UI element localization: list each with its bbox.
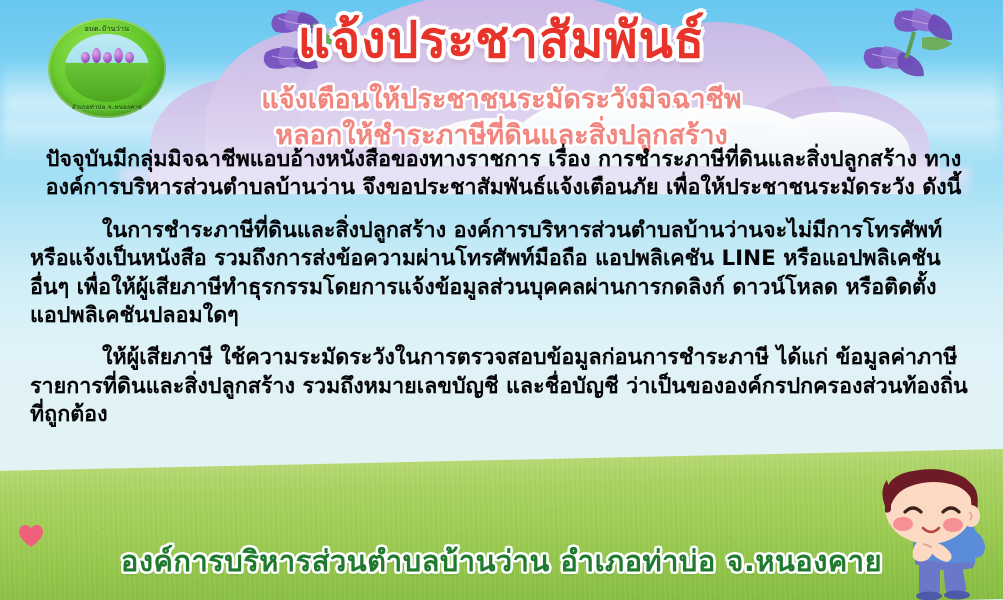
body-paragraph-1: ปัจจุบันมีกลุ่มมิจฉาชีพแอบอ้างหนังสือของ… xyxy=(30,146,977,203)
poster-headline: แจ้งประชาสัมพันธ์ xyxy=(0,14,1003,67)
announcement-poster: อบต.บ้านว่าน อำเภอท่าบ่อ จ.หนองคาย xyxy=(0,0,1003,600)
body-paragraph-2: ในการชำระภาษีที่ดินและสิ่งปลูกสร้าง องค์… xyxy=(30,217,977,331)
heart-icon xyxy=(18,524,44,548)
subheadline-line-1: แจ้งเตือนให้ประชาชนระมัดระวังมิจฉาชีพ xyxy=(0,82,1003,118)
footer-organization-name: องค์การบริหารส่วนตำบลบ้านว่าน อำเภอท่าบ่… xyxy=(0,538,1003,584)
poster-subheadline: แจ้งเตือนให้ประชาชนระมัดระวังมิจฉาชีพ หล… xyxy=(0,82,1003,153)
poster-body-copy: ปัจจุบันมีกลุ่มมิจฉาชีพแอบอ้างหนังสือของ… xyxy=(30,146,977,429)
body-paragraph-3: ให้ผู้เสียภาษี ใช้ความระมัดระวังในการตรว… xyxy=(30,344,977,429)
bowing-boy-character xyxy=(861,468,1001,600)
